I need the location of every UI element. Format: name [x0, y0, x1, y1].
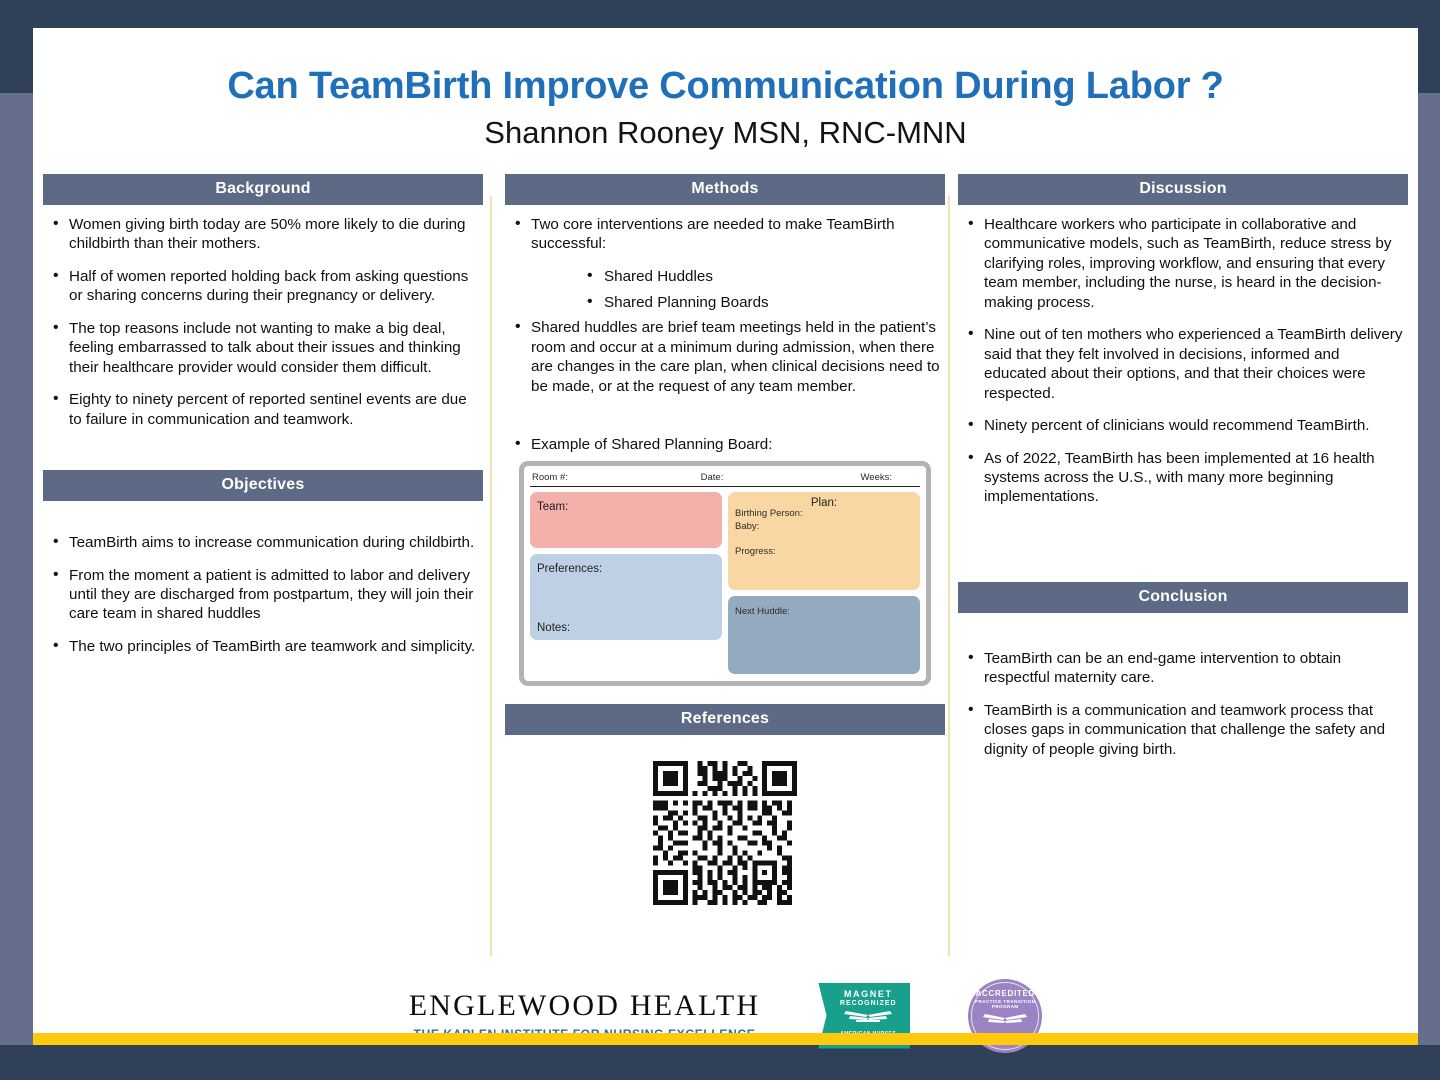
list-item: The two principles of TeamBirth are team… — [47, 637, 479, 656]
list-item: TeamBirth is a communication and teamwor… — [962, 701, 1404, 759]
columns-container: Background Women giving birth today are … — [33, 174, 1418, 964]
list-item: From the moment a patient is admitted to… — [47, 566, 479, 624]
section-body-background: Women giving birth today are 50% more li… — [43, 205, 483, 429]
shared-planning-board-figure: Room #: Date: Weeks: Team: Preferences: … — [505, 461, 945, 686]
title-block: Can TeamBirth Improve Communication Duri… — [33, 28, 1418, 150]
list-item: TeamBirth aims to increase communication… — [47, 533, 479, 552]
spacer — [43, 442, 483, 470]
board-preferences-label: Preferences: — [537, 563, 602, 575]
board-weeks-label: Weeks: — [772, 472, 918, 483]
list-item: Eighty to ninety percent of reported sen… — [47, 390, 479, 429]
planning-board-right-column: Plan: Birthing Person: Baby: Progress: N… — [728, 492, 920, 674]
wheat-sheaf-icon — [842, 1010, 894, 1028]
list-item: As of 2022, TeamBirth has been implement… — [962, 449, 1404, 507]
column-middle: Methods Two core interventions are neede… — [505, 174, 945, 910]
board-box-plan: Plan: Birthing Person: Baby: Progress: — [728, 492, 920, 590]
section-header-background: Background — [43, 174, 483, 205]
spacer — [47, 511, 479, 533]
accredited-line-2: PRACTICE TRANSITION — [975, 999, 1035, 1004]
board-team-label: Team: — [537, 501, 568, 513]
references-body — [505, 761, 945, 910]
section-body-conclusion: TeamBirth can be an end-game interventio… — [958, 613, 1408, 759]
englewood-health-name: ENGLEWOOD HEALTH — [409, 991, 761, 1021]
background-bullet-list: Women giving birth today are 50% more li… — [47, 215, 479, 429]
methods-bullet-list-3: Example of Shared Planning Board: — [509, 435, 941, 454]
wheat-sheaf-icon — [982, 1012, 1028, 1030]
methods-bullet-list: Two core interventions are needed to mak… — [509, 215, 941, 254]
list-item: Two core interventions are needed to mak… — [509, 215, 941, 254]
section-header-methods: Methods — [505, 174, 945, 205]
spacer — [509, 409, 941, 435]
spacer — [962, 623, 1404, 649]
page-title: Can TeamBirth Improve Communication Duri… — [33, 66, 1418, 108]
section-header-objectives: Objectives — [43, 470, 483, 501]
section-header-conclusion: Conclusion — [958, 582, 1408, 613]
list-item: Shared huddles are brief team meetings h… — [509, 318, 941, 396]
board-box-team: Team: — [530, 492, 722, 548]
board-birthing-person-label: Birthing Person: — [735, 508, 803, 519]
section-body-objectives: TeamBirth aims to increase communication… — [43, 501, 483, 656]
conclusion-bullet-list: TeamBirth can be an end-game interventio… — [962, 649, 1404, 759]
planning-board-grid: Team: Preferences: Notes: Plan: Birthing… — [530, 492, 920, 674]
list-item: TeamBirth can be an end-game interventio… — [962, 649, 1404, 688]
list-item: Shared Planning Boards — [587, 293, 941, 313]
methods-sub-bullet-list: Shared Huddles Shared Planning Boards — [509, 267, 941, 313]
list-item: Shared Huddles — [587, 267, 941, 287]
board-next-huddle-label: Next Huddle: — [735, 606, 790, 617]
discussion-bullet-list: Healthcare workers who participate in co… — [962, 215, 1404, 507]
column-divider-right — [948, 196, 950, 956]
accredited-line-3: PROGRAM — [992, 1004, 1019, 1009]
column-divider-left — [490, 196, 492, 956]
planning-board-left-column: Team: Preferences: Notes: — [530, 492, 722, 674]
column-left: Background Women giving birth today are … — [43, 174, 483, 669]
footer-logos: ENGLEWOOD HEALTH THE KAPLEN INSTITUTE FO… — [33, 968, 1418, 1063]
author-name: Shannon Rooney MSN, RNC-MNN — [33, 116, 1418, 150]
list-item: Nine out of ten mothers who experienced … — [962, 325, 1404, 403]
board-progress-label: Progress: — [735, 546, 913, 557]
gold-accent-stripe — [33, 1033, 1418, 1045]
board-notes-label: Notes: — [537, 622, 570, 634]
board-box-next-huddle: Next Huddle: — [728, 596, 920, 674]
objectives-bullet-list: TeamBirth aims to increase communication… — [47, 533, 479, 656]
planning-board: Room #: Date: Weeks: Team: Preferences: … — [519, 461, 931, 686]
board-baby-label: Baby: — [735, 521, 913, 532]
magnet-line-1: MAGNET — [844, 989, 893, 999]
magnet-line-2: RECOGNIZED — [840, 1000, 897, 1007]
section-header-references: References — [505, 704, 945, 735]
spacer — [958, 520, 1408, 582]
list-item: Healthcare workers who participate in co… — [962, 215, 1404, 312]
list-item: Ninety percent of clinicians would recom… — [962, 416, 1404, 435]
methods-bullet-list-2: Shared huddles are brief team meetings h… — [509, 318, 941, 396]
list-item: Half of women reported holding back from… — [47, 267, 479, 306]
board-box-preferences: Preferences: Notes: — [530, 554, 722, 640]
section-body-methods: Two core interventions are needed to mak… — [505, 205, 945, 455]
planning-board-header-row: Room #: Date: Weeks: — [530, 471, 920, 487]
list-item: Example of Shared Planning Board: — [509, 435, 941, 454]
section-body-discussion: Healthcare workers who participate in co… — [958, 205, 1408, 507]
section-header-discussion: Discussion — [958, 174, 1408, 205]
spacer — [505, 686, 945, 704]
board-date-label: Date: — [652, 472, 772, 483]
board-room-label: Room #: — [532, 472, 652, 483]
qr-code-icon[interactable] — [653, 761, 797, 905]
poster-panel: Can TeamBirth Improve Communication Duri… — [33, 28, 1418, 1033]
column-right: Discussion Healthcare workers who partic… — [958, 174, 1408, 772]
list-item: Women giving birth today are 50% more li… — [47, 215, 479, 254]
accredited-line-1: ACCREDITED — [976, 989, 1035, 998]
list-item: The top reasons include not wanting to m… — [47, 319, 479, 377]
